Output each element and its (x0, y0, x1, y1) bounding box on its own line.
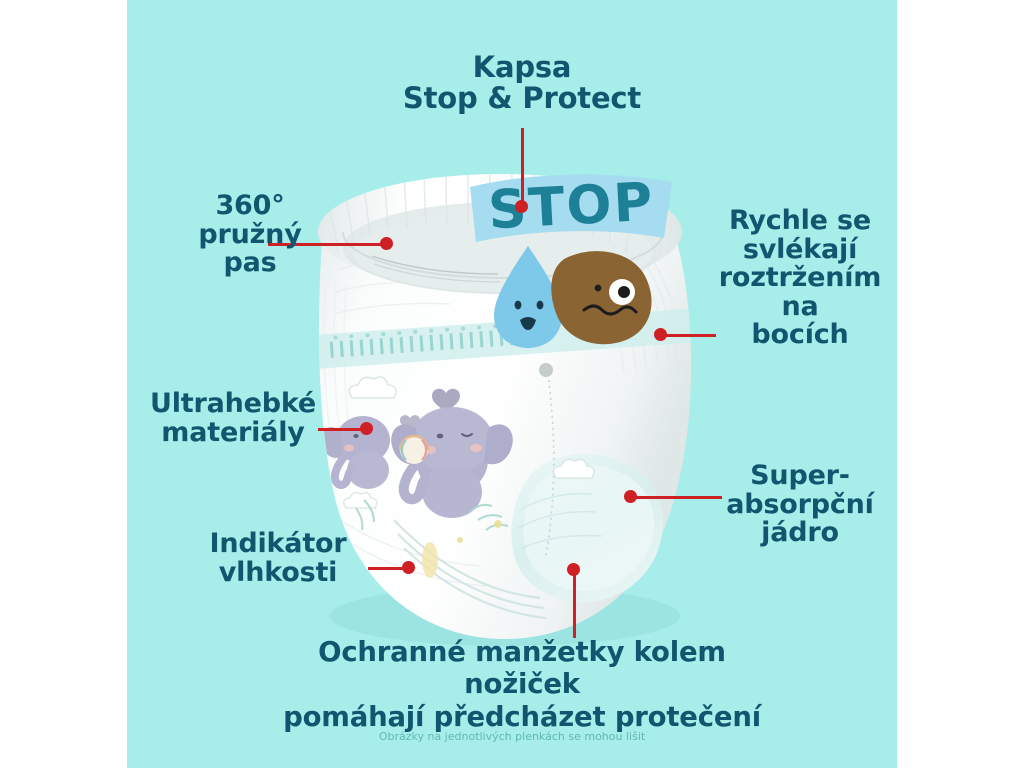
footer-disclaimer: Obrázky na jednotlivých plenkách se moho… (127, 730, 897, 743)
callout-ochranne-manzetky: Ochranné manžetky kolem nožiček pomáhají… (262, 636, 782, 733)
callout-rychle-se-svlekaji: Rychle se svlékají roztržením na bocích (700, 207, 900, 350)
dot-super (624, 490, 637, 503)
dot-pas (380, 237, 393, 250)
callout-360-pruzny-pas: 360° pružný pas (170, 192, 330, 278)
callout-ultrahebke-materialy: Ultrahebké materiály (118, 390, 348, 447)
dot-ultra (360, 422, 373, 435)
callout-indikator-vlhkosti: Indikátor vlhkosti (168, 530, 388, 587)
stop-banner: STOP (470, 172, 672, 242)
leader-ochranne (573, 570, 576, 638)
dot-ochranne (567, 563, 580, 576)
dot-indikator (402, 561, 415, 574)
dot-rychle (654, 328, 667, 341)
callout-kapsa-stop-protect: Kapsa Stop & Protect (372, 52, 672, 113)
dot-kapsa (515, 200, 528, 213)
svg-text:STOP: STOP (487, 172, 656, 242)
ball (400, 436, 428, 464)
leader-kapsa (521, 128, 524, 206)
product-infographic: STOP Kaps (0, 0, 1024, 768)
callout-super-absorpcni-jadro: Super- absorpční jádro (700, 462, 900, 548)
